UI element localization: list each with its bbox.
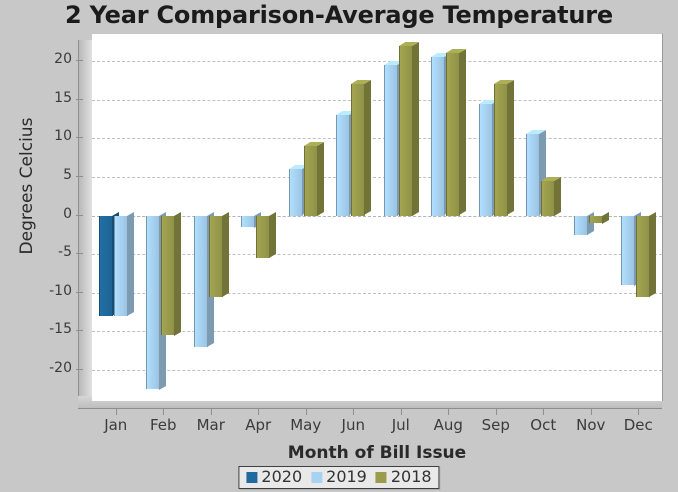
bar-2019-May bbox=[289, 169, 302, 215]
x-axis-tick-labels: JanFebMarAprMayJunJulAugSepOctNovDec bbox=[92, 416, 662, 440]
bar-face bbox=[304, 146, 318, 216]
legend-item-2018[interactable]: 2018 bbox=[376, 469, 432, 485]
bar-face bbox=[494, 84, 508, 215]
x-axis-tick-mark bbox=[163, 408, 164, 415]
y-axis-tick-label: -20 bbox=[6, 360, 72, 376]
bar-2019-Oct bbox=[526, 134, 539, 215]
bar-2018-Mar bbox=[209, 216, 222, 297]
bar-2019-Nov bbox=[574, 216, 587, 235]
bar-2018-Oct bbox=[541, 181, 554, 216]
legend-swatch-icon bbox=[376, 472, 387, 483]
bar-2020-Jan bbox=[99, 216, 112, 316]
bar-2019-Jan bbox=[114, 216, 127, 316]
bar-side bbox=[269, 212, 276, 259]
bar-2018-Jun bbox=[351, 84, 364, 215]
bar-face bbox=[479, 104, 493, 216]
bar-face bbox=[574, 216, 588, 235]
bar-2019-Mar bbox=[194, 216, 207, 347]
bar-face bbox=[289, 169, 303, 215]
gridline bbox=[92, 138, 662, 139]
y-axis-tick-mark bbox=[76, 60, 83, 61]
x-axis-tick-mark bbox=[258, 408, 259, 415]
legend-label: 2020 bbox=[261, 469, 302, 485]
y-axis-tick-label: 10 bbox=[6, 128, 72, 144]
y-axis-tick-label: 0 bbox=[6, 206, 72, 222]
legend: 202020192018 bbox=[238, 466, 439, 489]
bar-face bbox=[194, 216, 208, 347]
bar-face bbox=[114, 216, 128, 316]
y-axis-tick-label: -5 bbox=[6, 244, 72, 260]
y-axis-tick-label: 15 bbox=[6, 90, 72, 106]
y-axis-tick-mark bbox=[76, 292, 83, 293]
x-axis-tick-mark bbox=[448, 408, 449, 415]
bar-2018-Apr bbox=[256, 216, 269, 258]
y-axis-tick-mark bbox=[76, 330, 83, 331]
bar-2019-Jul bbox=[384, 65, 397, 216]
x-axis-tick-mark bbox=[591, 408, 592, 415]
gridline bbox=[92, 61, 662, 62]
y-axis-tick-label: 20 bbox=[6, 51, 72, 67]
x-axis-tick-marks bbox=[92, 408, 662, 416]
bar-2018-May bbox=[304, 146, 317, 216]
legend-item-2019[interactable]: 2019 bbox=[311, 469, 367, 485]
legend-swatch-icon bbox=[311, 472, 322, 483]
bar-2019-Apr bbox=[241, 216, 254, 228]
bar-face bbox=[99, 216, 113, 316]
gridline bbox=[92, 370, 662, 371]
y-axis-title: Degrees Celcius bbox=[17, 21, 37, 351]
plot-area bbox=[92, 33, 663, 401]
bar-side bbox=[317, 142, 324, 216]
bar-side bbox=[602, 212, 609, 224]
bar-side bbox=[222, 212, 229, 297]
bar-2019-Feb bbox=[146, 216, 159, 390]
x-axis-tick-mark bbox=[353, 408, 354, 415]
bar-side bbox=[174, 212, 181, 336]
bar-2018-Nov bbox=[589, 216, 602, 224]
bar-side bbox=[507, 80, 514, 215]
x-axis-tick-label: Dec bbox=[610, 416, 666, 434]
bar-side bbox=[364, 80, 371, 215]
x-axis-tick-mark bbox=[543, 408, 544, 415]
bar-face bbox=[399, 46, 413, 216]
bar-side bbox=[649, 212, 656, 297]
bar-side bbox=[127, 212, 134, 316]
y-axis-tick-label: -10 bbox=[6, 283, 72, 299]
gridline bbox=[92, 100, 662, 101]
x-axis-tick-mark bbox=[638, 408, 639, 415]
bar-2018-Dec bbox=[636, 216, 649, 297]
legend-label: 2019 bbox=[326, 469, 367, 485]
bar-side bbox=[459, 49, 466, 215]
bar-2018-Jul bbox=[399, 46, 412, 216]
chart-canvas: 2 Year Comparison-Average Temperature 20… bbox=[0, 0, 678, 492]
y-axis-tick-mark bbox=[76, 137, 83, 138]
bar-2018-Feb bbox=[161, 216, 174, 336]
y-axis-tick-mark bbox=[76, 253, 83, 254]
x-axis-tick-mark bbox=[306, 408, 307, 415]
y-axis-tick-label: 5 bbox=[6, 167, 72, 183]
bar-side bbox=[412, 42, 419, 216]
bar-face bbox=[589, 216, 603, 224]
gridline bbox=[92, 177, 662, 178]
bar-side bbox=[554, 177, 561, 216]
x-axis-tick-mark bbox=[211, 408, 212, 415]
bar-2019-Dec bbox=[621, 216, 634, 286]
y-axis-tick-mark bbox=[76, 215, 83, 216]
y-axis-tick-mark bbox=[76, 176, 83, 177]
legend-label: 2018 bbox=[391, 469, 432, 485]
bar-2018-Sep bbox=[494, 84, 507, 215]
bar-2018-Aug bbox=[446, 53, 459, 215]
y-axis-tick-mark bbox=[76, 99, 83, 100]
bar-2019-Aug bbox=[431, 57, 444, 215]
y-axis-tick-mark bbox=[76, 369, 83, 370]
x-axis-title: Month of Bill Issue bbox=[92, 443, 662, 463]
bar-face bbox=[384, 65, 398, 216]
bar-2019-Jun bbox=[336, 115, 349, 215]
x-axis-tick-mark bbox=[116, 408, 117, 415]
x-axis-tick-mark bbox=[496, 408, 497, 415]
y-axis-tick-label: -15 bbox=[6, 321, 72, 337]
legend-swatch-icon bbox=[246, 472, 257, 483]
bar-2019-Sep bbox=[479, 104, 492, 216]
x-axis-tick-mark bbox=[401, 408, 402, 415]
bar-face bbox=[209, 216, 223, 297]
legend-item-2020[interactable]: 2020 bbox=[246, 469, 302, 485]
page-title: 2 Year Comparison-Average Temperature bbox=[0, 1, 678, 29]
